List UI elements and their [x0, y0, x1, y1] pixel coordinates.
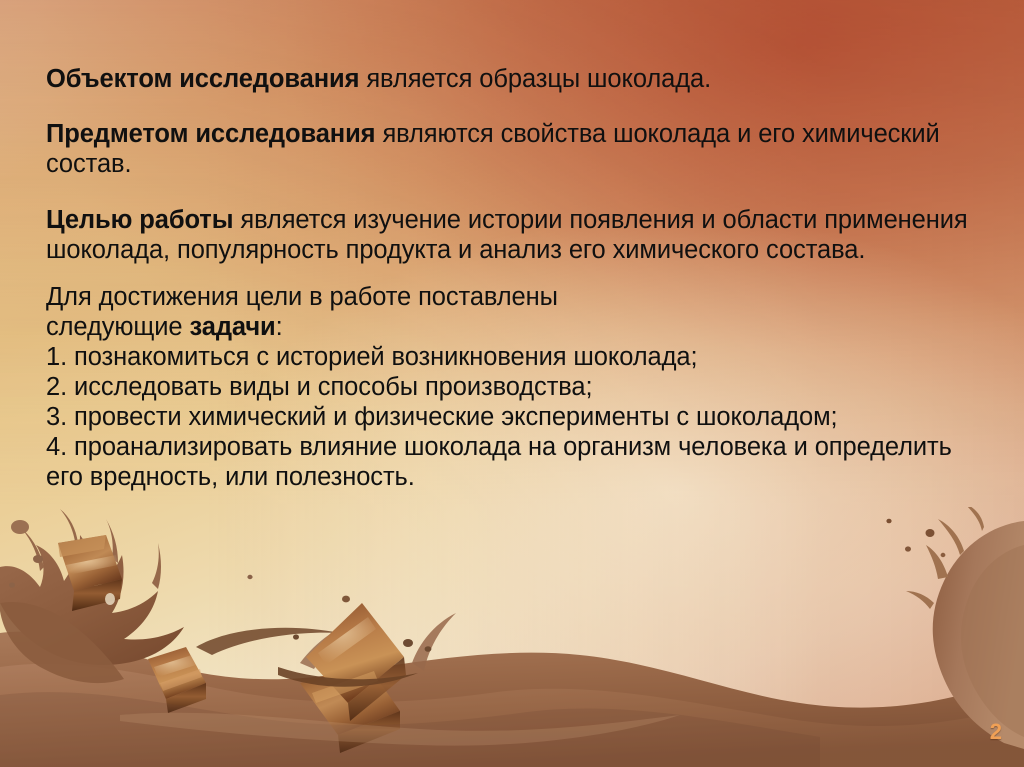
paragraph-subject-of-research: Предметом исследования являются свойства… [46, 119, 980, 179]
paragraph-goal-of-work: Целью работы является изучение истории п… [46, 205, 980, 265]
slide-canvas: Объектом исследования является образцы ш… [0, 0, 1024, 767]
tasks-keyword: задачи [190, 313, 276, 341]
subject-of-research-label: Предметом исследования [46, 120, 375, 148]
goal-of-work-label: Целью работы [46, 206, 233, 234]
tasks-colon: : [276, 313, 283, 341]
task-item-3: 3. провести химический и физические эксп… [46, 402, 980, 432]
tasks-block: Для достижения цели в работе поставлены … [46, 282, 980, 493]
slide-body-text: Объектом исследования является образцы ш… [46, 38, 980, 492]
tasks-intro-line-1: Для достижения цели в работе поставлены [46, 282, 980, 312]
paragraph-object-of-research: Объектом исследования является образцы ш… [46, 64, 980, 94]
tasks-intro-line-2: следующие задачи: [46, 312, 980, 342]
task-item-4: 4. проанализировать влияние шоколада на … [46, 432, 980, 492]
task-item-2: 2. исследовать виды и способы производст… [46, 372, 980, 402]
task-item-1: 1. познакомиться с историей возникновени… [46, 342, 980, 372]
page-number: 2 [990, 719, 1002, 745]
tasks-intro-prefix: следующие [46, 313, 190, 341]
object-of-research-label: Объектом исследования [46, 65, 359, 93]
object-of-research-text: является образцы шоколада. [359, 65, 711, 93]
